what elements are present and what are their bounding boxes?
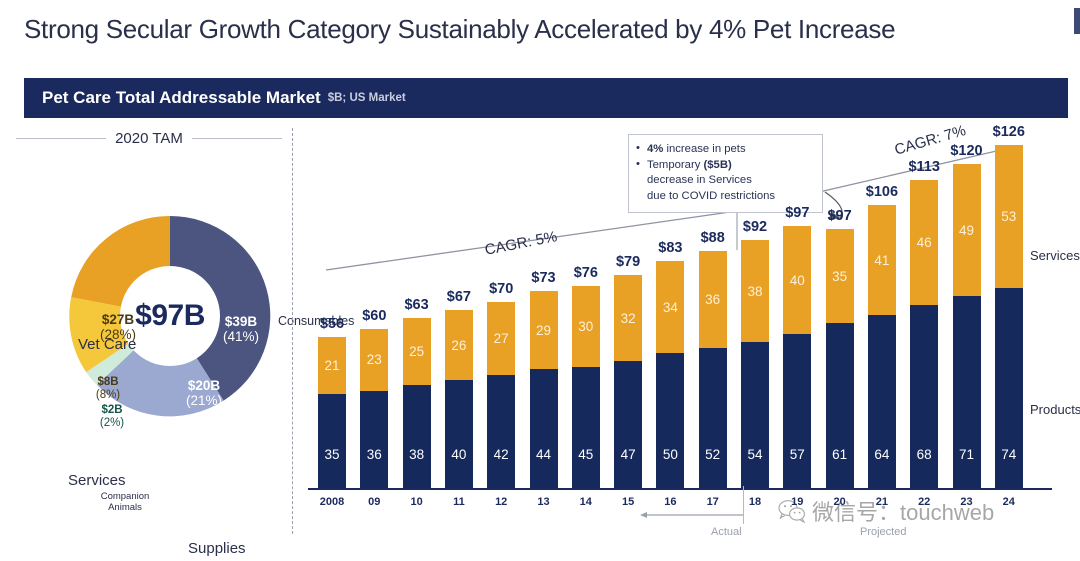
bar-column: $793247 xyxy=(614,275,642,488)
bar-total-label: $79 xyxy=(616,254,640,270)
donut-category-supplies: Supplies xyxy=(188,540,246,557)
bar-segment-services: 23 xyxy=(360,329,388,391)
x-axis-tick-label: 09 xyxy=(360,496,388,508)
bar-segment-value-products: 61 xyxy=(832,447,847,462)
bar-segment-value-services: 34 xyxy=(663,300,678,315)
x-axis-tick-label: 23 xyxy=(953,496,981,508)
bar-segment-value-products: 64 xyxy=(874,447,889,462)
bar-total-label: $88 xyxy=(701,230,725,246)
tam-donut-panel: 2020 TAM $97B $39B (41%) $20B (21%) $27B xyxy=(0,122,292,552)
bar-total-label: $76 xyxy=(574,265,598,281)
callout-covid-pre: Temporary xyxy=(647,159,704,171)
donut-label-consumables: $39B (41%) xyxy=(208,314,274,344)
bar-segment-value-services: 38 xyxy=(747,284,762,299)
bar-segment-products: 68 xyxy=(910,305,938,488)
bar-column: $1204971 xyxy=(953,164,981,488)
bar-segment-value-services: 36 xyxy=(705,292,720,307)
services-pct: (8%) xyxy=(84,389,132,402)
bar-segment-value-products: 68 xyxy=(917,447,932,462)
bar-segment-services: 27 xyxy=(487,302,515,375)
bar-segment-value-services: 29 xyxy=(536,323,551,338)
phase-divider xyxy=(743,486,744,524)
bar-segment-value-services: 26 xyxy=(451,338,466,353)
bar-column: $602336 xyxy=(360,329,388,488)
projected-phase-label: Projected xyxy=(860,526,906,538)
bar-segment-value-services: 32 xyxy=(621,311,636,326)
x-axis-tick-label: 13 xyxy=(530,496,558,508)
bar-segment-products: 38 xyxy=(403,385,431,488)
cagr-label-actual: CAGR: 5% xyxy=(483,228,558,259)
bar-segment-services: 35 xyxy=(826,229,854,323)
bar-segment-services: 26 xyxy=(445,310,473,380)
bar-segment-products: 71 xyxy=(953,296,981,488)
bar-segment-products: 40 xyxy=(445,380,473,488)
heading-rule-right xyxy=(192,138,282,139)
donut-category-services: Services xyxy=(68,472,126,489)
donut-label-supplies: $20B (21%) xyxy=(172,378,236,408)
bar-segment-products: 47 xyxy=(614,361,642,488)
x-axis-tick-label: 2008 xyxy=(318,496,346,508)
donut-category-vet-care: Vet Care xyxy=(78,336,136,353)
bar-segment-value-products: 50 xyxy=(663,447,678,462)
x-axis-tick-label: 19 xyxy=(783,496,811,508)
bar-segment-services: 29 xyxy=(530,291,558,369)
consumables-pct: (41%) xyxy=(208,329,274,344)
bar-total-label: $97 xyxy=(785,205,809,221)
bar-total-label: $97 xyxy=(827,208,851,224)
section-banner: Pet Care Total Addressable Market $B; US… xyxy=(24,78,1068,118)
bar-total-label: $113 xyxy=(908,159,939,175)
bar-segment-value-services: 40 xyxy=(790,273,805,288)
bar-column: $1134668 xyxy=(910,180,938,488)
supplies-value: $20B xyxy=(172,378,236,393)
callout-covid-line3: due to COVID restrictions xyxy=(647,190,775,202)
donut-label-services: $8B (8%) xyxy=(84,376,132,402)
bar-column: $923854 xyxy=(741,240,769,488)
tam-donut-chart: $97B $39B (41%) $20B (21%) $27B (28%) $8… xyxy=(64,210,276,422)
bar-total-label: $106 xyxy=(866,184,898,200)
bar-segment-value-services: 27 xyxy=(494,331,509,346)
bar-segment-value-products: 57 xyxy=(790,447,805,462)
x-axis-line xyxy=(308,488,1052,490)
bar-column: $672640 xyxy=(445,310,473,488)
bar-column: $763045 xyxy=(572,286,600,488)
callout-pets-pct: 4% xyxy=(647,143,663,155)
bar-total-label: $67 xyxy=(447,289,471,305)
series-label-services: Services xyxy=(1030,248,1080,263)
x-axis-tick-label: 11 xyxy=(445,496,473,508)
bar-column: $973561 xyxy=(826,229,854,488)
bar-segment-services: 32 xyxy=(614,275,642,361)
consumables-value: $39B xyxy=(208,314,274,329)
bar-total-label: $83 xyxy=(658,240,682,256)
bar-segment-products: 50 xyxy=(656,353,684,488)
bar-segment-value-services: 41 xyxy=(874,253,889,268)
bar-column: $833450 xyxy=(656,261,684,488)
bar-segment-services: 40 xyxy=(783,226,811,334)
bar-segment-products: 54 xyxy=(741,342,769,488)
x-axis-tick-label: 22 xyxy=(910,496,938,508)
bar-segment-products: 52 xyxy=(699,348,727,488)
bar-segment-services: 46 xyxy=(910,180,938,304)
bar-segment-value-products: 42 xyxy=(494,447,509,462)
bar-segment-value-services: 23 xyxy=(367,352,382,367)
panel-divider xyxy=(292,128,293,534)
x-axis-tick-label: 17 xyxy=(699,496,727,508)
bar-segment-products: 45 xyxy=(572,367,600,488)
banner-title: Pet Care Total Addressable Market xyxy=(42,88,321,108)
bar-segment-value-products: 45 xyxy=(578,447,593,462)
bar-segment-value-products: 71 xyxy=(959,447,974,462)
bar-segment-services: 38 xyxy=(741,240,769,343)
bar-segment-services: 49 xyxy=(953,164,981,296)
bar-segment-value-services: 46 xyxy=(917,235,932,250)
bar-segment-value-services: 49 xyxy=(959,223,974,238)
bar-column: $732944 xyxy=(530,291,558,488)
bar-total-label: $126 xyxy=(993,124,1025,140)
donut-category-companion-animals: Companion Animals xyxy=(94,492,156,514)
bar-column: $883652 xyxy=(699,251,727,488)
heading-rule-left xyxy=(16,138,106,139)
bar-segment-value-products: 54 xyxy=(747,447,762,462)
bar-column: $1064164 xyxy=(868,205,896,488)
bar-segment-value-services: 25 xyxy=(409,344,424,359)
actual-range-arrow xyxy=(640,511,743,519)
x-axis-tick-label: 14 xyxy=(572,496,600,508)
bar-segment-value-products: 40 xyxy=(451,447,466,462)
bar-segment-services: 30 xyxy=(572,286,600,367)
bar-segment-products: 35 xyxy=(318,394,346,488)
bar-total-label: $73 xyxy=(531,270,555,286)
companion-animals-pct: (2%) xyxy=(90,417,134,430)
bar-segment-services: 53 xyxy=(995,145,1023,288)
bar-total-label: $56 xyxy=(320,316,344,332)
bar-segment-services: 25 xyxy=(403,318,431,385)
tam-heading: 2020 TAM xyxy=(16,130,282,147)
bar-segment-value-services: 53 xyxy=(1001,209,1016,224)
donut-label-companion-animals: $2B (2%) xyxy=(90,404,134,430)
bar-segment-value-services: 30 xyxy=(578,319,593,334)
bar-segment-value-products: 44 xyxy=(536,447,551,462)
callout-covid-amount: ($5B) xyxy=(704,159,732,171)
x-axis-tick-label: 10 xyxy=(403,496,431,508)
x-axis-tick-label: 24 xyxy=(995,496,1023,508)
x-axis-tick-label: 16 xyxy=(656,496,684,508)
bar-column: $632538 xyxy=(403,318,431,488)
x-axis-tick-label: 20 xyxy=(826,496,854,508)
bar-column: $1265374 xyxy=(995,145,1023,488)
bar-column: $974057 xyxy=(783,226,811,488)
actual-phase-label: Actual xyxy=(711,526,742,538)
tam-heading-label: 2020 TAM xyxy=(115,130,183,147)
bar-segment-services: 41 xyxy=(868,205,896,316)
x-axis-tick-label: 12 xyxy=(487,496,515,508)
banner-subtitle: $B; US Market xyxy=(328,92,406,104)
bar-total-label: $60 xyxy=(362,308,386,324)
vet-care-value: $27B xyxy=(86,312,150,327)
bar-segment-value-services: 21 xyxy=(324,358,339,373)
bar-column: $562135 xyxy=(318,337,346,488)
bar-segment-products: 74 xyxy=(995,288,1023,488)
callout-covid-line2: decrease in Services xyxy=(647,174,752,186)
covid-callout-box: 4% increase in pets Temporary ($5B)decre… xyxy=(628,134,823,213)
companion-animals-value: $2B xyxy=(90,404,134,417)
x-axis-tick-label: 15 xyxy=(614,496,642,508)
bar-segment-products: 42 xyxy=(487,375,515,488)
bar-column: $702742 xyxy=(487,302,515,488)
page-title: Strong Secular Growth Category Sustainab… xyxy=(24,14,1080,45)
bar-total-label: $92 xyxy=(743,219,767,235)
bar-segment-services: 34 xyxy=(656,261,684,353)
supplies-pct: (21%) xyxy=(172,393,236,408)
services-value: $8B xyxy=(84,376,132,389)
series-label-products: Products xyxy=(1030,402,1080,417)
bar-segment-products: 64 xyxy=(868,315,896,488)
callout-bullet-covid: Temporary ($5B)decrease in Servicesdue t… xyxy=(636,158,813,205)
bar-segment-value-products: 74 xyxy=(1001,447,1016,462)
bar-total-label: $70 xyxy=(489,281,513,297)
bar-segment-products: 36 xyxy=(360,391,388,488)
bar-total-label: $63 xyxy=(404,297,428,313)
title-edge-cut-decoration xyxy=(1074,8,1080,34)
stacked-bar-chart: CAGR: 5% CAGR: 7% 4% increase in pets Te… xyxy=(300,122,1080,552)
bar-segment-products: 44 xyxy=(530,369,558,488)
callout-bullet-pets: 4% increase in pets xyxy=(636,142,813,158)
bar-segment-services: 36 xyxy=(699,251,727,348)
bar-segment-value-products: 52 xyxy=(705,447,720,462)
bar-segment-products: 57 xyxy=(783,334,811,488)
bar-segment-value-services: 35 xyxy=(832,269,847,284)
bar-segment-services: 21 xyxy=(318,337,346,394)
bar-segment-products: 61 xyxy=(826,323,854,488)
bar-segment-value-products: 38 xyxy=(409,447,424,462)
bar-segment-value-products: 36 xyxy=(367,447,382,462)
bar-segment-value-products: 35 xyxy=(324,447,339,462)
bar-total-label: $120 xyxy=(950,143,982,159)
bar-segment-value-products: 47 xyxy=(621,447,636,462)
x-axis-tick-label: 18 xyxy=(741,496,769,508)
callout-pets-text: increase in pets xyxy=(663,143,745,155)
x-axis-tick-label: 21 xyxy=(868,496,896,508)
tam-bar-chart-panel: CAGR: 5% CAGR: 7% 4% increase in pets Te… xyxy=(300,122,1080,552)
